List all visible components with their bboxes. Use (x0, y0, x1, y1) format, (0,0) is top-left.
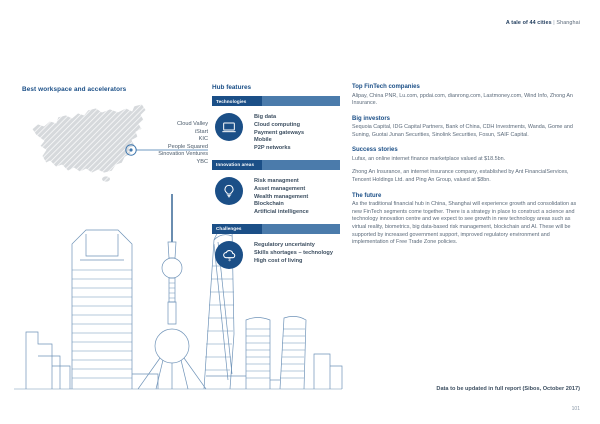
list-item: iStart (158, 129, 208, 137)
success-stories-body-2: Zhong An Insurance, an internet insuranc… (352, 169, 580, 184)
list-item: Skills shortages – technology (254, 250, 333, 258)
list-item: Wealth management (254, 194, 309, 202)
the-future-heading: The future (352, 193, 580, 199)
big-investors-block: Big investors Sequoia Capital, IDG Capit… (352, 116, 580, 140)
success-stories-heading: Success stories (352, 147, 580, 153)
badge-challenges: Challenges (212, 224, 340, 234)
success-stories-block: Success stories Lufax, an online interne… (352, 147, 580, 184)
badge-technologies: Technologies (212, 96, 340, 106)
laptop-icon (215, 113, 243, 141)
badge-label: Technologies (212, 99, 246, 104)
list-item: YBC (158, 159, 208, 167)
hub-group-technologies: Technologies Big data Cloud computing Pa… (212, 96, 342, 153)
page-number: 101 (572, 406, 580, 412)
list-item: KIC (158, 136, 208, 144)
list-item: Sinovation Ventures (158, 151, 208, 159)
top-companies-body: Alipay, China PNR, Lu.com, ppdai.com, di… (352, 93, 580, 108)
hub-features-title: Hub features (212, 84, 342, 91)
list-item: People Squared (158, 144, 208, 152)
list-item: Risk managment (254, 178, 309, 186)
list-item: High cost of living (254, 258, 333, 266)
list-item: Payment gateways (254, 130, 304, 138)
accelerator-list: Cloud Valley iStart KIC People Squared S… (158, 121, 208, 167)
list-item: P2P networks (254, 145, 304, 153)
lightbulb-icon (215, 177, 243, 205)
top-companies-block: Top FinTech companies Alipay, China PNR,… (352, 84, 580, 108)
header-city: Shanghai (556, 20, 580, 26)
china-map-wrapper: Cloud Valley iStart KIC People Squared S… (22, 99, 208, 187)
badge-innovation-areas: Innovation areas (212, 160, 340, 170)
list-item: Asset management (254, 186, 309, 194)
report-title: A tale of 44 cities (506, 20, 552, 26)
header-separator: | (553, 20, 555, 26)
challenges-list: Regulatory uncertainty Skills shortages … (254, 241, 333, 265)
the-future-body: As the traditional financial hub in Chin… (352, 201, 580, 247)
cloud-dollar-icon: $ (215, 241, 243, 269)
badge-label: Innovation areas (212, 162, 254, 167)
hub-group-innovation-areas: Innovation areas Risk managment Asset ma… (212, 160, 342, 217)
list-item: Big data (254, 114, 304, 122)
innovation-areas-list: Risk managment Asset management Wealth m… (254, 177, 309, 217)
list-item: Blockchain (254, 201, 309, 209)
big-investors-heading: Big investors (352, 116, 580, 122)
list-item: Cloud computing (254, 122, 304, 130)
list-item: Artificial intelligence (254, 209, 309, 217)
top-companies-heading: Top FinTech companies (352, 84, 580, 90)
page-header: A tale of 44 cities | Shanghai (506, 20, 580, 26)
hub-features-section: Hub features Technologies Big data Cloud… (212, 84, 342, 276)
hub-group-challenges: Challenges $ Regulatory uncertainty Skil… (212, 224, 342, 269)
footer-note: Data to be updated in full report (Sibos… (436, 386, 580, 392)
workspace-title: Best workspace and accelerators (22, 86, 208, 93)
list-item: Cloud Valley (158, 121, 208, 129)
list-item: Regulatory uncertainty (254, 242, 333, 250)
the-future-block: The future As the traditional financial … (352, 193, 580, 247)
page-root: A tale of 44 cities | Shanghai Best work… (0, 0, 600, 424)
workspace-section: Best workspace and accelerators (22, 86, 208, 187)
badge-label: Challenges (212, 226, 242, 231)
details-section: Top FinTech companies Alipay, China PNR,… (352, 84, 580, 255)
technologies-list: Big data Cloud computing Payment gateway… (254, 113, 304, 153)
success-stories-body-1: Lufax, an online internet finance market… (352, 156, 580, 164)
big-investors-body: Sequoia Capital, IDG Capital Partners, B… (352, 124, 580, 139)
list-item: Mobile (254, 137, 304, 145)
